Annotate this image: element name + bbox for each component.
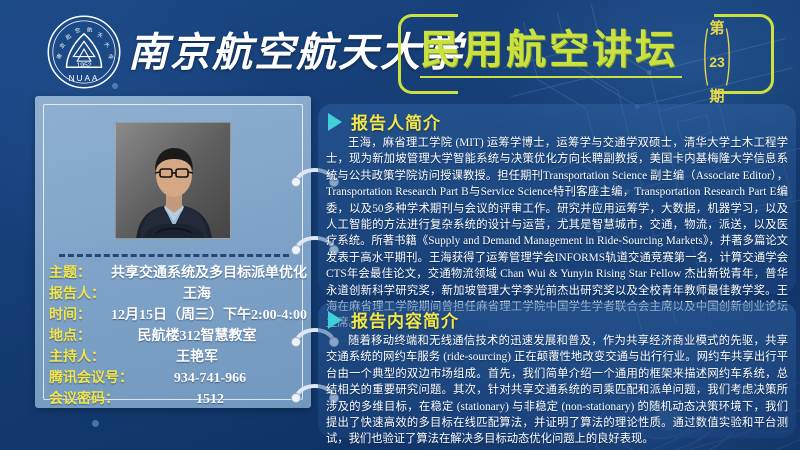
detail-label: 主持人： [49, 348, 107, 368]
issue-close-paren: ) [726, 23, 731, 85]
detail-label: 时间： [49, 306, 107, 326]
logo-year-text: 1952 [76, 62, 91, 69]
svg-text:京: 京 [58, 41, 67, 50]
detail-value: 1512 [133, 390, 301, 410]
event-details-list: 主题： 共享交通系统及多目标派单优化 报告人： 王海 时间： 12月15日（周三… [49, 264, 301, 411]
triangle-bullet-icon [328, 311, 342, 329]
poster-header: 1952 NUAA 南 京 航 空 航 天 大 学 南京航空航天大学 民用航空讲… [0, 0, 800, 100]
detail-row-location: 地点： 民航楼312智慧教室 [49, 327, 301, 347]
svg-text:空: 空 [74, 26, 82, 35]
detail-row-host: 主持人： 王艳军 [49, 348, 301, 368]
detail-label: 报告人： [49, 285, 107, 305]
svg-text:航: 航 [87, 25, 93, 33]
forum-title-block: 民用航空讲坛 ( 第 23 期 ) [398, 14, 774, 94]
triangle-bullet-icon [328, 113, 342, 131]
issue-prefix: 第 [709, 20, 724, 37]
detail-value: 王艳军 [107, 348, 301, 368]
section-header: 报告人简介 [318, 104, 796, 134]
detail-row-speaker: 报告人： 王海 [49, 285, 301, 305]
forum-title: 民用航空讲坛 [420, 22, 678, 78]
issue-badge: ( 第 23 期 ) [694, 18, 740, 90]
section-speaker-bio: 报告人简介 王海，麻省理工学院 (MIT) 运筹学博士，运筹学与交通学双硕士，清… [318, 104, 796, 294]
forum-title-underline [420, 76, 682, 78]
issue-number: 23 [709, 54, 725, 70]
poster-root: 1952 NUAA 南 京 航 空 航 天 大 学 南京航空航天大学 民用航空讲… [0, 0, 800, 450]
svg-text:天: 天 [96, 31, 104, 40]
detail-label: 会议密码： [49, 390, 133, 410]
detail-row-meeting-password: 会议密码： 1512 [49, 390, 301, 410]
detail-label: 腾讯会议号： [49, 369, 133, 389]
section-header: 报告内容简介 [318, 302, 796, 332]
section-title: 报告内容简介 [351, 307, 459, 332]
svg-text:南: 南 [54, 52, 64, 60]
detail-label: 地点： [49, 327, 107, 347]
detail-label: 主题： [49, 264, 107, 284]
nuaa-crest-logo-icon: 1952 NUAA 南 京 航 空 航 天 大 学 [46, 14, 122, 90]
divider-dashed [59, 254, 289, 257]
section-talk-abstract: 报告内容简介 随着移动终端和无线通信技术的迅速发展和普及，作为共享经济商业模式的… [318, 302, 796, 438]
issue-open-paren: ( [703, 23, 708, 85]
bg-dot [92, 420, 99, 427]
speaker-info-card: 主题： 共享交通系统及多目标派单优化 报告人： 王海 时间： 12月15日（周三… [35, 96, 311, 408]
issue-text: 第 23 期 [709, 3, 725, 105]
logo-acronym-text: NUAA [69, 73, 100, 83]
detail-value: 934-741-966 [133, 369, 301, 389]
detail-value: 12月15日（周三）下午2:00-4:00 [107, 306, 321, 326]
detail-row-meeting-id: 腾讯会议号： 934-741-966 [49, 369, 301, 389]
svg-text:大: 大 [103, 40, 113, 50]
detail-value: 民航楼312智慧教室 [107, 327, 301, 347]
svg-text:航: 航 [64, 32, 73, 42]
issue-suffix: 期 [709, 88, 724, 105]
detail-row-topic: 主题： 共享交通系统及多目标派单优化 [49, 264, 301, 284]
section-body: 随着移动终端和无线通信技术的迅速发展和普及，作为共享经济商业模式的先驱，共享交通… [318, 332, 796, 448]
detail-value: 王海 [107, 285, 301, 305]
detail-value: 共享交通系统及多目标派单优化 [107, 264, 321, 284]
speaker-portrait [115, 122, 231, 239]
detail-row-time: 时间： 12月15日（周三）下午2:00-4:00 [49, 306, 301, 326]
section-title: 报告人简介 [351, 109, 441, 134]
